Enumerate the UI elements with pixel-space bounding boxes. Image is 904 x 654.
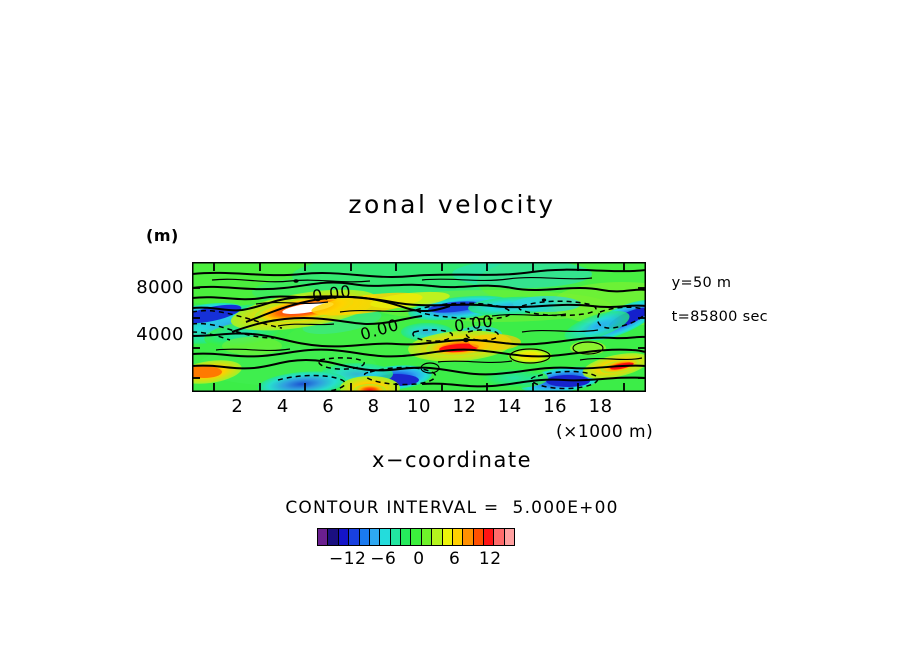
colorbar-swatch xyxy=(463,529,473,545)
colorbar-swatch xyxy=(380,529,390,545)
colorbar-swatch xyxy=(318,529,328,545)
plot-annotation: y=50 m t=85800 sec xyxy=(652,258,768,343)
colorbar-swatch xyxy=(484,529,494,545)
x-axis-tick-label: 18 xyxy=(589,396,613,417)
y-axis-tick-label: 4000 xyxy=(132,324,184,345)
colorbar-swatch xyxy=(453,529,463,545)
y-axis-units-label: (m) xyxy=(146,226,179,245)
x-axis-title: x−coordinate xyxy=(0,448,904,472)
colorbar-tick-label: 12 xyxy=(479,549,502,569)
colorbar-swatch xyxy=(349,529,359,545)
contour-field-svg xyxy=(192,262,646,392)
figure-canvas: zonal velocity (m) 80004000 xyxy=(0,0,904,654)
x-axis-tick-label: 10 xyxy=(407,396,431,417)
colorbar-swatch xyxy=(432,529,442,545)
colorbar-swatch xyxy=(391,529,401,545)
colorbar-tick-label: −6 xyxy=(370,549,396,569)
colorbar-swatch xyxy=(443,529,453,545)
colorbar-tick-labels: −12−60612 xyxy=(317,549,515,571)
colorbar-tick-label: 0 xyxy=(413,549,424,569)
x-axis-tick-label: 4 xyxy=(277,396,289,417)
colorbar-swatch xyxy=(474,529,484,545)
colorbar-swatch xyxy=(339,529,349,545)
colorbar-swatch xyxy=(494,529,504,545)
annotation-y-value: y=50 m xyxy=(672,275,732,291)
colorbar-swatch xyxy=(370,529,380,545)
contour-interval-label: CONTOUR INTERVAL = 5.000E+00 xyxy=(0,498,904,518)
x-axis-tick-label: 6 xyxy=(322,396,334,417)
x-axis-tick-label: 12 xyxy=(452,396,476,417)
contour-plot-area: 0.000.000.00 xyxy=(192,262,646,392)
y-axis-tick-labels: 80004000 xyxy=(128,262,184,392)
colorbar-tick-label: −12 xyxy=(329,549,366,569)
colorbar-tick-label: 6 xyxy=(449,549,460,569)
colorbar-swatch xyxy=(401,529,411,545)
x-axis-tick-label: 14 xyxy=(498,396,522,417)
colorbar-swatch xyxy=(360,529,370,545)
annotation-t-value: t=85800 sec xyxy=(672,309,768,325)
x-axis-units-label: (×1000 m) xyxy=(556,422,653,442)
x-axis-tick-labels: 24681012141618 xyxy=(192,396,646,422)
colorbar xyxy=(317,528,515,546)
x-axis-tick-label: 16 xyxy=(543,396,567,417)
y-axis-tick-label: 8000 xyxy=(132,277,184,298)
colorbar-swatch xyxy=(505,529,514,545)
chart-title: zonal velocity xyxy=(0,190,904,219)
colorbar-swatch xyxy=(328,529,338,545)
colorbar-swatches xyxy=(317,528,515,546)
colorbar-swatch xyxy=(411,529,421,545)
x-axis-tick-label: 2 xyxy=(231,396,243,417)
x-axis-tick-label: 8 xyxy=(368,396,380,417)
colorbar-swatch xyxy=(422,529,432,545)
